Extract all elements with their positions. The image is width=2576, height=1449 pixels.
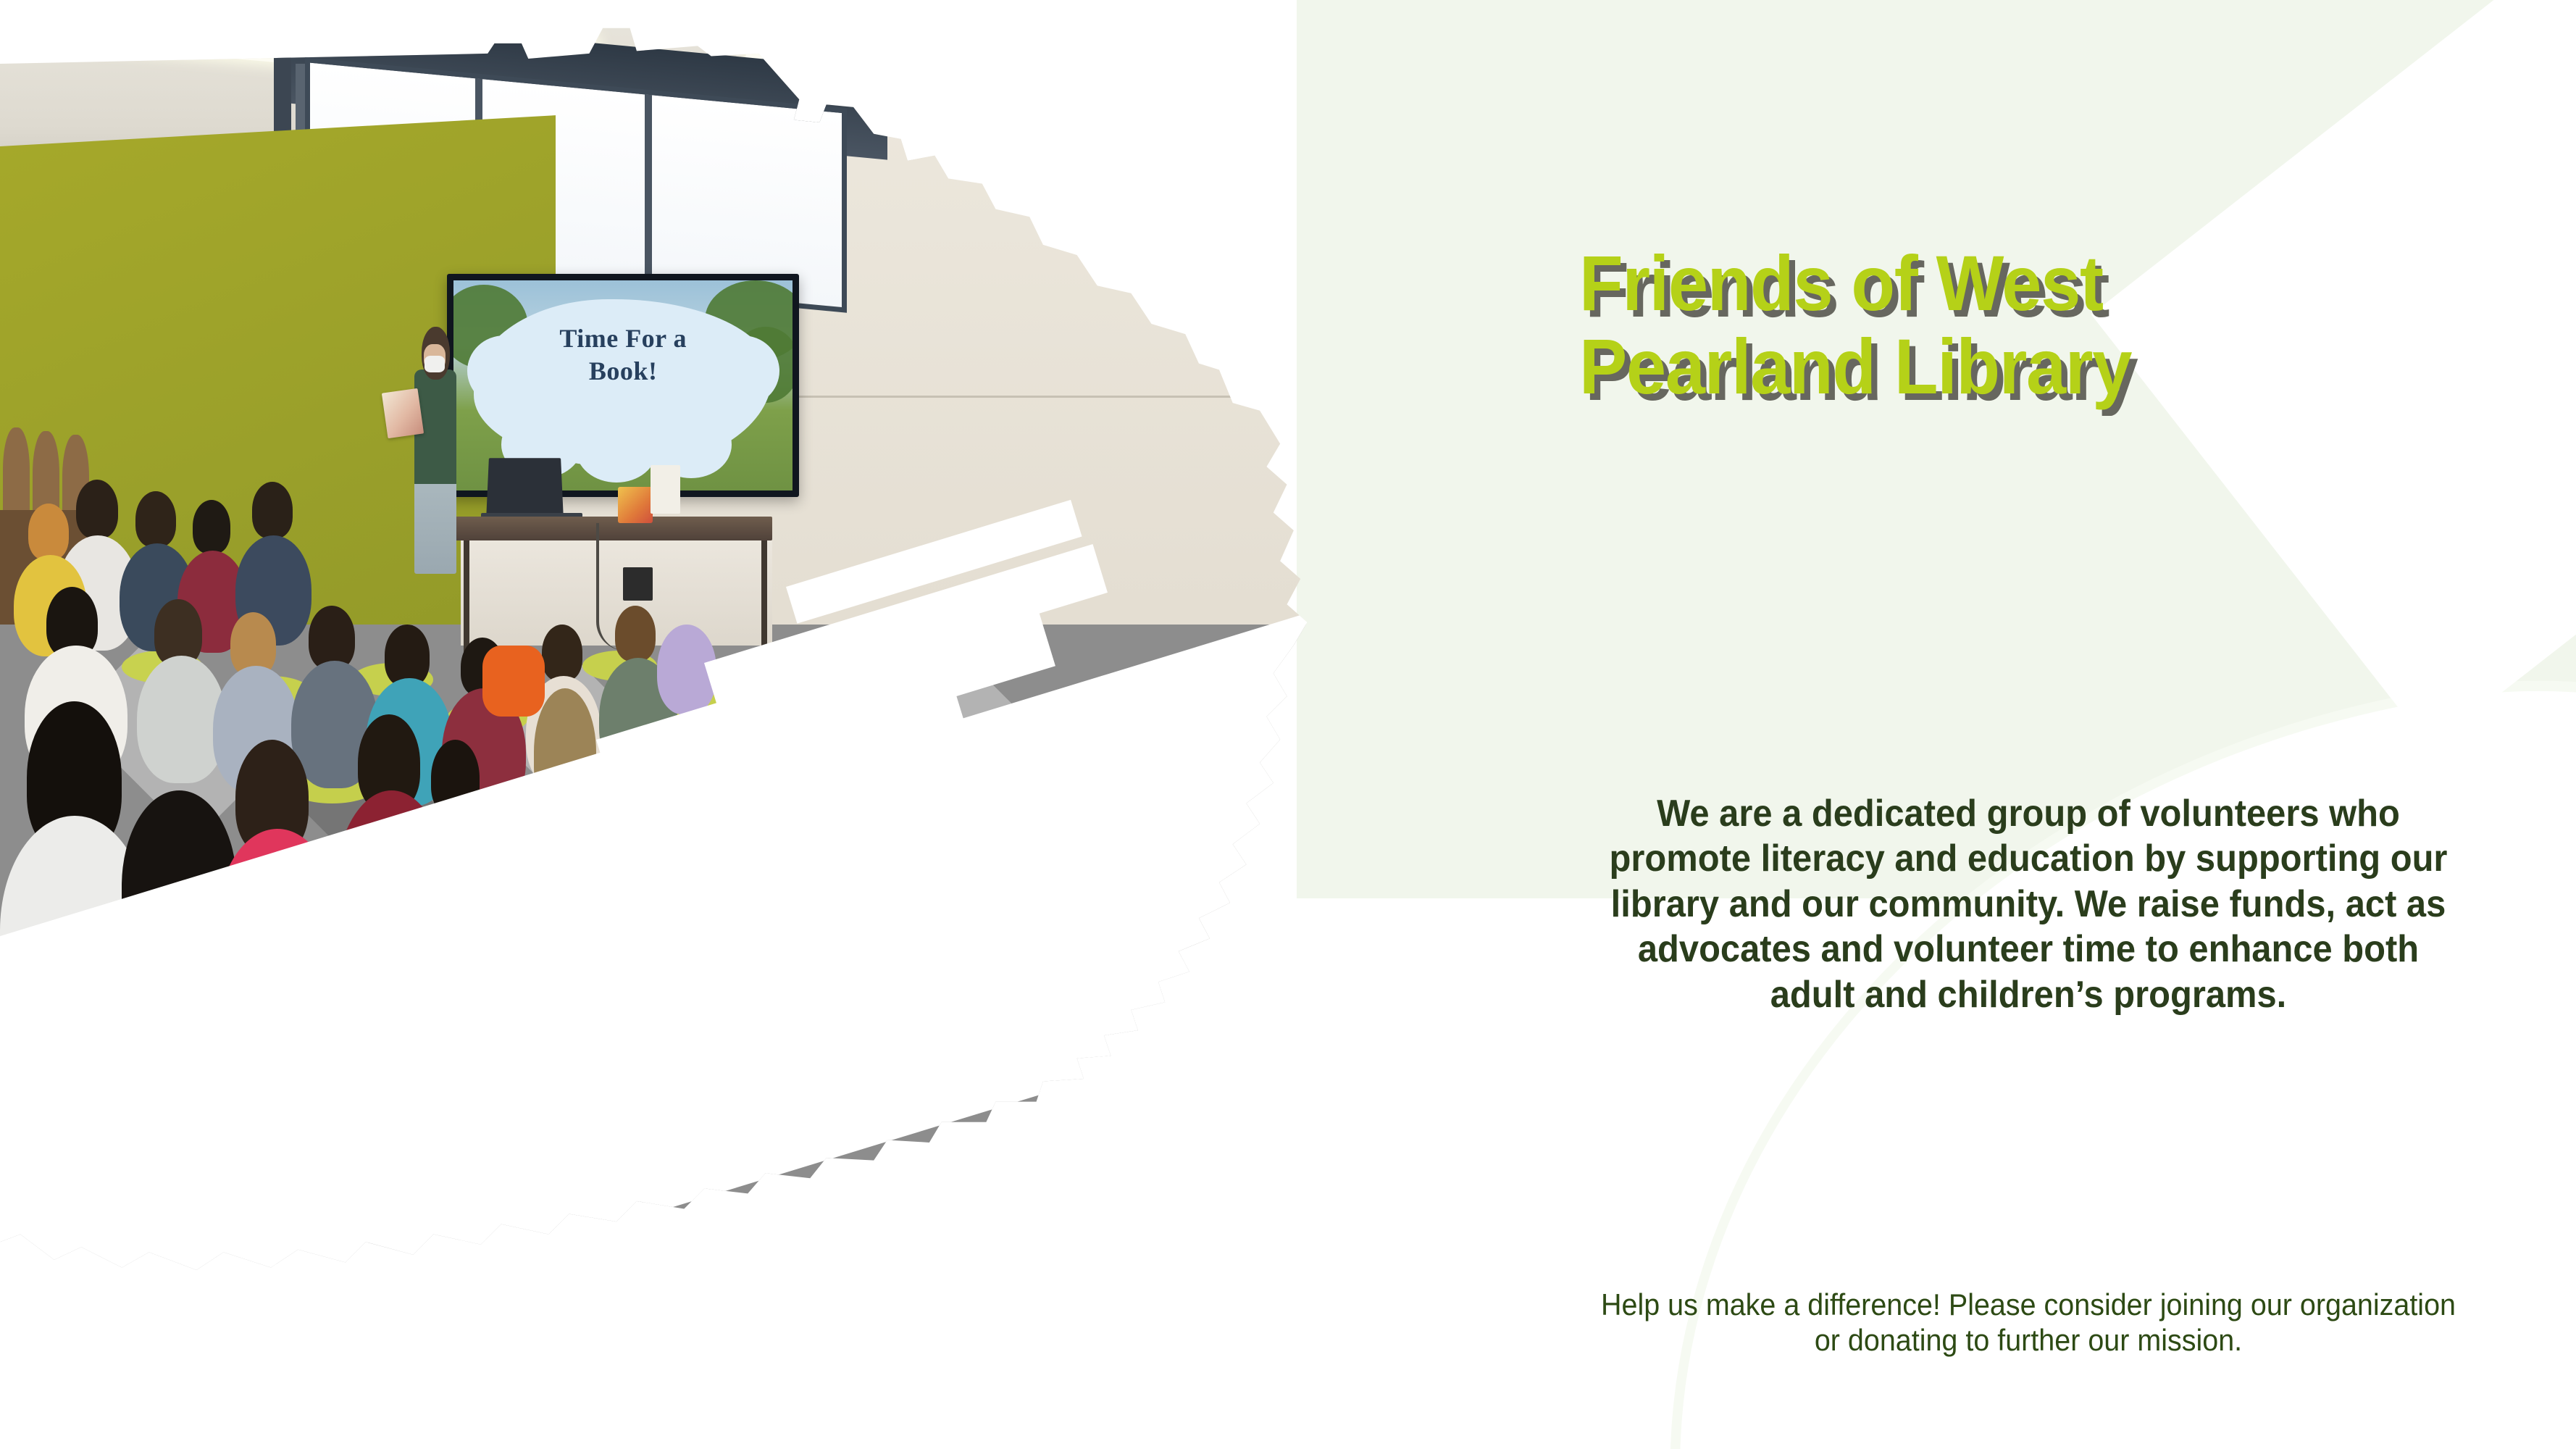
screen-cloud-bump-2 [576,415,657,483]
presenter-book [382,388,425,438]
page-title-line1: Friends of West [1579,239,2103,327]
slide-canvas: Time For a Book! [0,0,2576,1449]
mission-paragraph: We are a dedicated group of volunteers w… [1592,791,2464,1017]
presenter-body [414,369,456,574]
audience-person [482,646,545,717]
audience-person [385,625,430,685]
screen-text-line1: Time For a [453,322,793,355]
screen-text-line2: Book! [453,355,793,388]
audience-person [28,504,69,559]
audience-person [135,491,176,547]
presenter-face-mask [425,356,445,372]
page-title-line2: Pearland Library [1579,322,2131,410]
audience-person [193,500,230,554]
page-title: Friends of West Pearland Library [1579,242,2412,408]
audience-person [542,625,582,680]
audience-person [76,480,118,538]
laptop [486,458,564,521]
screen-text: Time For a Book! [453,322,793,388]
window-mullion-2 [645,95,652,290]
shelf-arch-1 [3,427,30,523]
audience-person [252,482,293,538]
table-paper [651,465,680,514]
audience-person [309,606,355,669]
call-to-action-text: Help us make a difference! Please consid… [1586,1287,2471,1358]
audience-person [615,606,656,661]
table-toy [618,487,653,522]
